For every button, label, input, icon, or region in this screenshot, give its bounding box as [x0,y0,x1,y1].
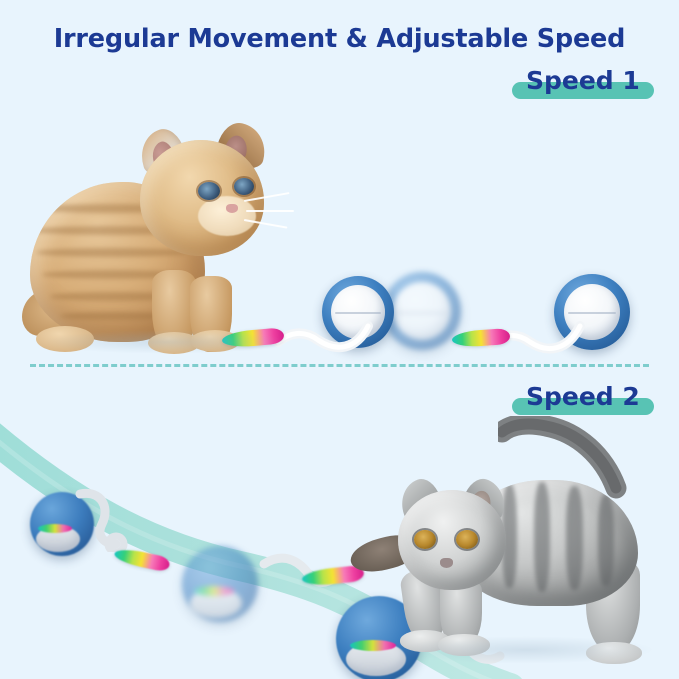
kitten-muzzle [198,196,256,236]
kitten-eye-left [414,530,436,549]
toy-ball-motion-blur [383,272,461,350]
trail-ball-2 [182,546,258,622]
kitten-whisker [246,210,294,212]
kitten-eye-right [456,530,478,549]
speed-2-badge: Speed 2 [512,382,654,415]
section-divider [30,364,649,367]
speed-1-label: Speed 1 [514,66,652,99]
kitten-ground-shadow [40,330,290,354]
kitten-eye-right [234,178,254,195]
kitten-ground-shadow [396,636,656,664]
page-title: Irregular Movement & Adjustable Speed [0,24,679,54]
speed-2-label: Speed 2 [514,382,652,415]
infographic-canvas: Irregular Movement & Adjustable Speed Sp… [0,0,679,679]
kitten-nose [226,204,238,213]
silver-tabby-kitten [398,418,666,668]
speed-1-badge: Speed 1 [512,66,654,99]
trail-ball-1-tail [68,486,142,552]
kitten-nose [440,558,453,568]
kitten-eye-left [198,182,220,200]
